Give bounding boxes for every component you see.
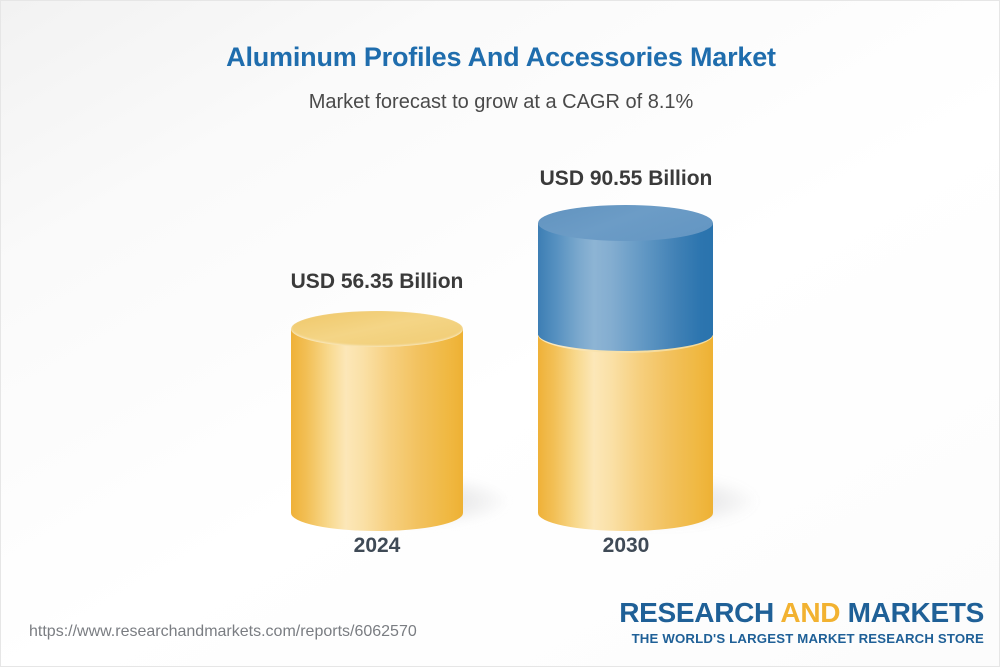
brand-logo: RESEARCH AND MARKETS THE WORLD'S LARGEST… <box>619 599 984 645</box>
chart-canvas: Aluminum Profiles And Accessories Market… <box>0 0 1000 667</box>
brand-name: RESEARCH AND MARKETS <box>619 599 984 627</box>
bar-2024-cylinder <box>291 311 463 513</box>
bar-2024-value-label: USD 56.35 Billion <box>217 270 537 294</box>
brand-name-part1: RESEARCH <box>619 597 780 628</box>
bar-2024-bottom-cap <box>291 495 463 531</box>
bar-2024-segment-base <box>291 329 463 513</box>
brand-name-and: AND <box>780 597 840 628</box>
source-url[interactable]: https://www.researchandmarkets.com/repor… <box>29 623 417 641</box>
brand-tagline: THE WORLD'S LARGEST MARKET RESEARCH STOR… <box>619 632 984 645</box>
brand-name-part2: MARKETS <box>840 597 984 628</box>
bar-2030-top-cap <box>538 205 713 241</box>
bar-2030-value-label: USD 90.55 Billion <box>466 167 786 191</box>
bar-2030-category-label: 2030 <box>466 534 786 558</box>
bar-2030-growth-bottom-cap <box>538 317 713 351</box>
bar-2024-top-cap <box>291 311 463 347</box>
bar-2030-bottom-cap <box>538 495 713 531</box>
chart-subtitle: Market forecast to grow at a CAGR of 8.1… <box>1 91 1000 114</box>
bar-2030-cylinder-upper <box>538 205 713 353</box>
chart-title: Aluminum Profiles And Accessories Market <box>1 42 1000 73</box>
bar-2030-segment-base <box>538 335 713 513</box>
